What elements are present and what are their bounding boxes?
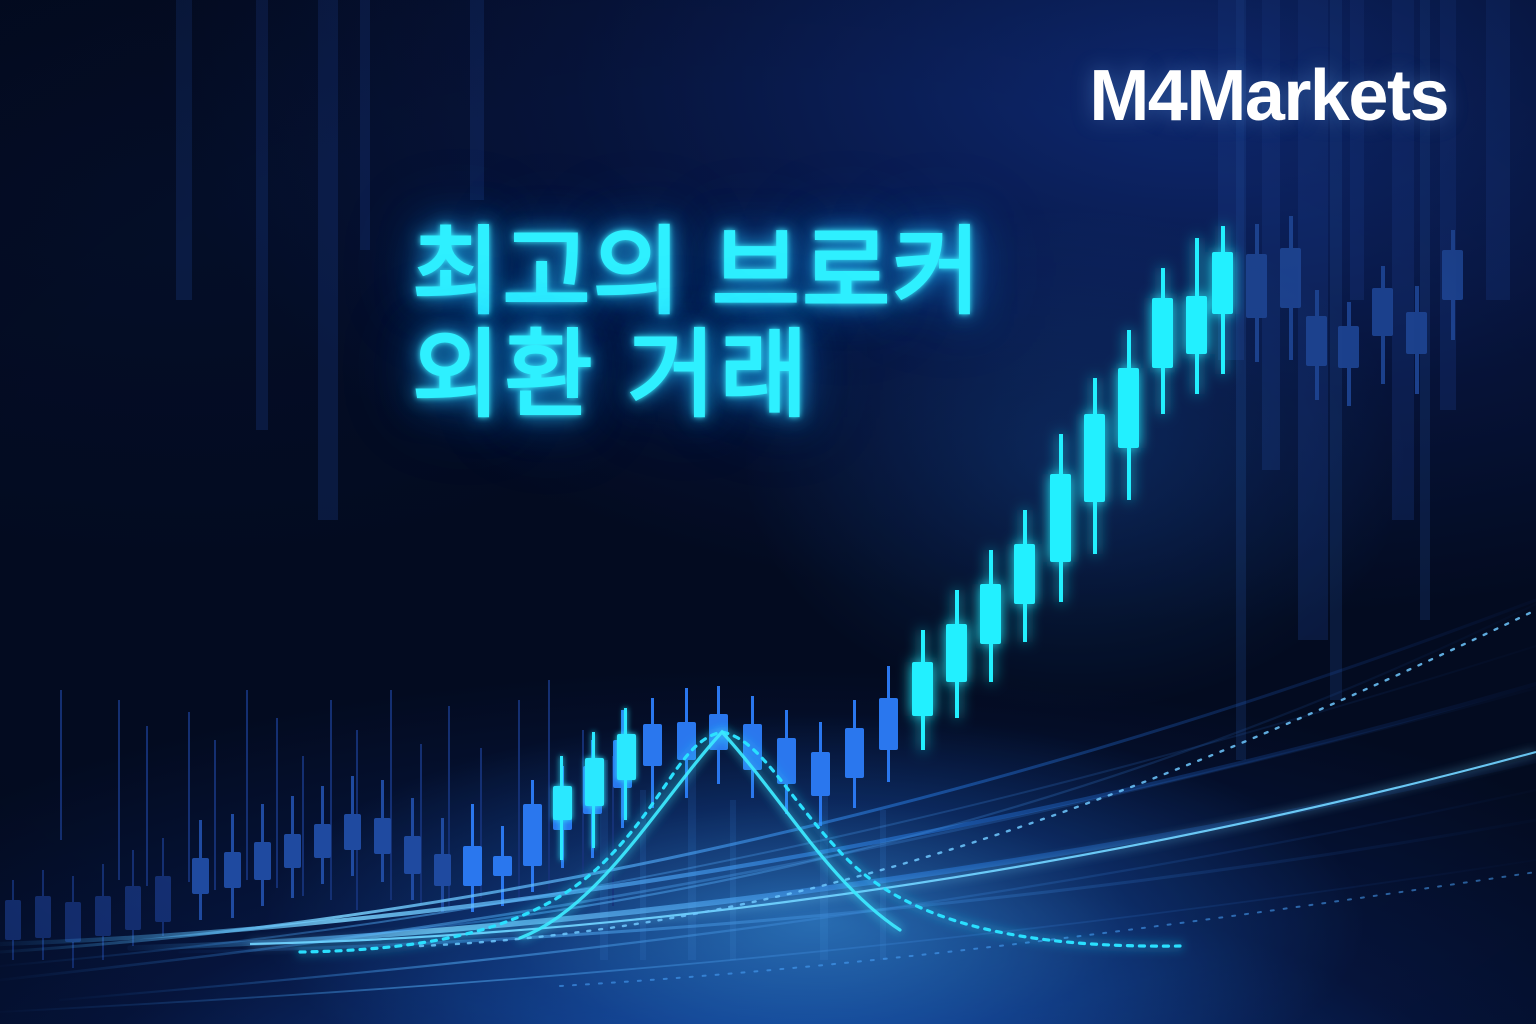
headline-line-1: 최고의 브로커 [412, 222, 983, 325]
headline: 최고의 브로커 외환 거래 [412, 222, 983, 427]
promo-banner: M4Markets 최고의 브로커 외환 거래 [0, 0, 1536, 1024]
vignette [0, 0, 1536, 1024]
headline-line-2: 외환 거래 [412, 325, 983, 428]
brand-logo[interactable]: M4Markets [1089, 60, 1448, 132]
